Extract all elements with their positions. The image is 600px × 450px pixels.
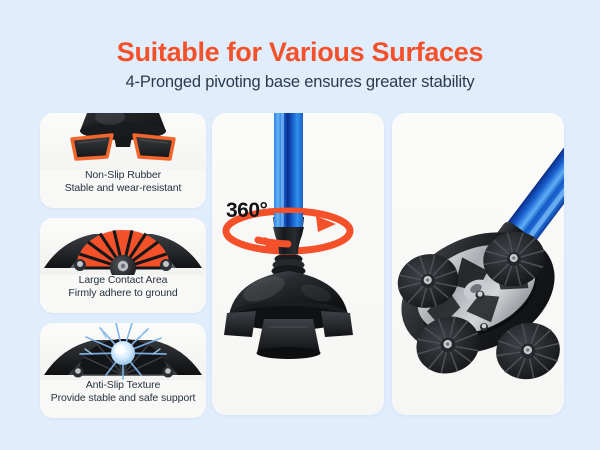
anti-slip-texture-shine-icon [40,323,206,380]
feature-card-title: Anti-Slip Texture [40,379,206,392]
page-title: Suitable for Various Surfaces [0,0,600,66]
content-stage: Non-Slip Rubber Stable and wear-resistan… [0,113,600,415]
feature-card-caption: Non-Slip Rubber Stable and wear-resistan… [40,169,206,196]
four-pronged-base-angled-view-icon [392,113,564,415]
feature-card-anti-slip-texture[interactable]: Anti-Slip Texture Provide stable and saf… [40,323,206,418]
large-contact-area-fan-icon [40,218,206,275]
page-subtitle: 4-Pronged pivoting base ensures greater … [0,66,600,92]
feature-card-non-slip-rubber[interactable]: Non-Slip Rubber Stable and wear-resistan… [40,113,206,208]
feature-card-column: Non-Slip Rubber Stable and wear-resistan… [40,113,206,415]
feature-card-large-contact-area[interactable]: Large Contact Area Firmly adhere to grou… [40,218,206,313]
feature-card-caption: Large Contact Area Firmly adhere to grou… [40,274,206,301]
feature-card-description: Provide stable and safe support [40,392,206,405]
cane-pivoting-base-front-view-icon [212,113,384,415]
feature-card-title: Large Contact Area [40,274,206,287]
right-panel-four-pronged-base[interactable] [392,113,564,415]
rotation-degree-label: 360° [226,199,267,223]
feature-card-description: Firmly adhere to ground [40,287,206,300]
header: Suitable for Various Surfaces 4-Pronged … [0,0,600,104]
non-slip-rubber-feet-icon [40,113,206,170]
feature-card-title: Non-Slip Rubber [40,169,206,182]
feature-card-caption: Anti-Slip Texture Provide stable and saf… [40,379,206,406]
center-panel-360-rotation[interactable]: 360° [212,113,384,415]
feature-card-description: Stable and wear-resistant [40,182,206,195]
